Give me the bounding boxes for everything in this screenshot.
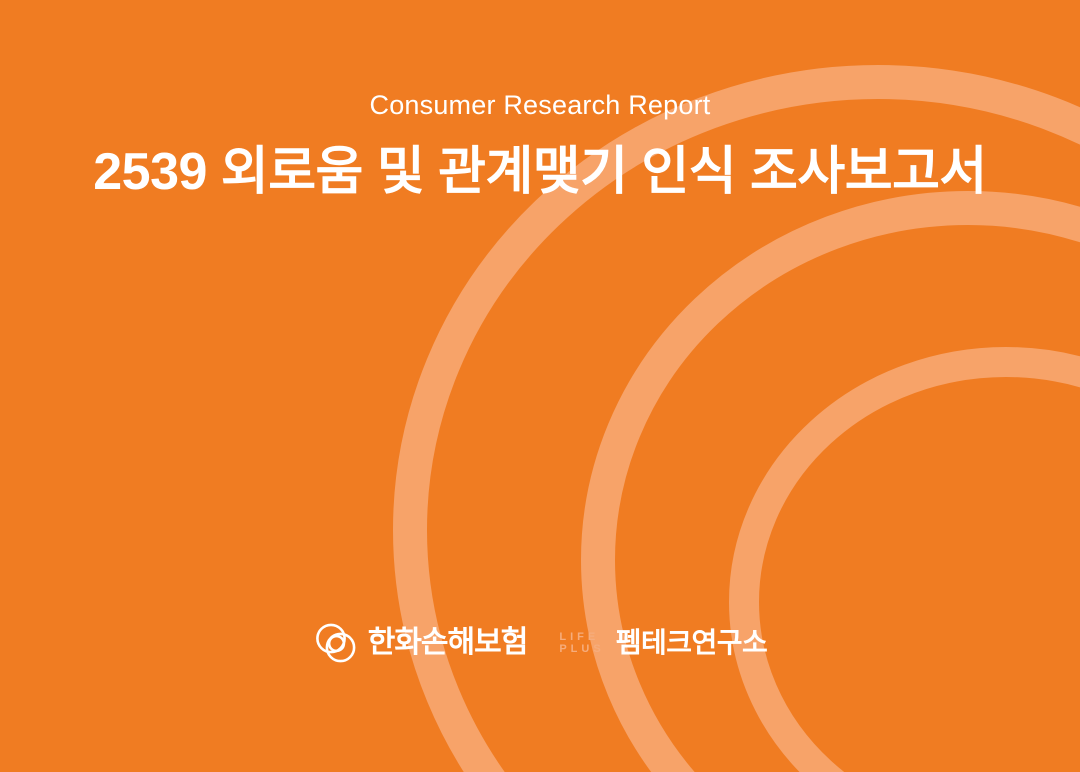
- lifeplus-line-life: LIFE: [559, 631, 604, 643]
- title-block: Consumer Research Report 2539 외로움 및 관계맺기…: [0, 92, 1080, 198]
- report-eyebrow: Consumer Research Report: [0, 92, 1080, 119]
- lifeplus-line-plus: PLUS: [559, 643, 604, 655]
- lifeplus-logo: LIFE PLUS: [559, 631, 604, 656]
- hanwha-wordmark: 한화손해보험: [368, 628, 528, 658]
- femtech-lab-wordmark: 펨테크연구소: [616, 629, 768, 657]
- footer-logo-lockup: 한화손해보험 LIFE PLUS 펨테크연구소: [0, 614, 1080, 672]
- cover-slide: Consumer Research Report 2539 외로움 및 관계맺기…: [0, 0, 1080, 772]
- lifeplus-brand: LIFE PLUS 펨테크연구소: [559, 629, 767, 657]
- page-title: 2539 외로움 및 관계맺기 인식 조사보고서: [0, 146, 1080, 198]
- hanwha-rings-icon: [313, 620, 359, 666]
- hanwha-brand: 한화손해보험: [313, 620, 528, 666]
